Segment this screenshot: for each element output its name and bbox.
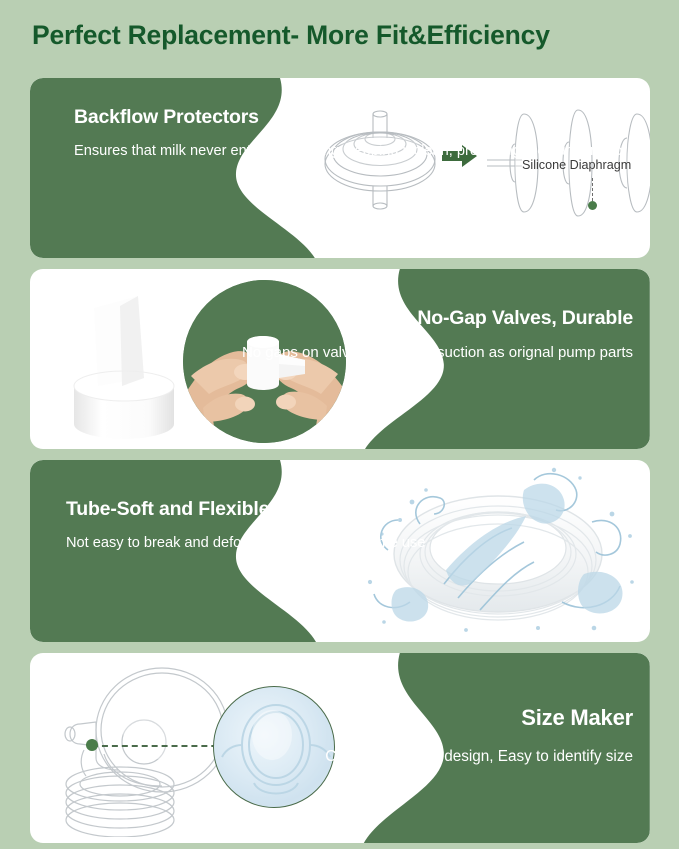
card-body: Clear size maker design, Easy to identif… xyxy=(325,747,633,767)
annotation-dot-size-marker xyxy=(86,739,98,751)
card-heading: No-Gap Valves, Durable xyxy=(242,307,633,330)
card-body: Not easy to break and deform,suitable fo… xyxy=(66,534,425,553)
card-heading: Backflow Protectors xyxy=(74,106,627,129)
card-text-block: Tube-Soft and Flexible Not easy to break… xyxy=(66,498,425,554)
card-body: No gaps on valve tips, Same suction as o… xyxy=(242,343,633,363)
card-heading: Size Maker xyxy=(325,705,633,731)
size-marking-magnifier: 24 xyxy=(213,686,335,808)
card-text-block: Size Maker Clear size maker design, Easy… xyxy=(325,705,633,768)
annotation-label-silicone-diaphragm: Silicone Diaphragm xyxy=(522,158,631,172)
card-text-block: Backflow Protectors Ensures that milk ne… xyxy=(74,106,627,162)
feature-card-backflow-protectors: Backflow Protectors Ensures that milk ne… xyxy=(30,78,650,258)
card-heading: Tube-Soft and Flexible xyxy=(66,498,425,521)
duckbill-valve-illustration xyxy=(60,290,188,440)
card-text-block: No-Gap Valves, Durable No gaps on valve … xyxy=(242,307,633,363)
annotation-dot-diaphragm xyxy=(588,201,597,210)
page-title: Perfect Replacement- More Fit&Efficiency xyxy=(32,20,652,50)
